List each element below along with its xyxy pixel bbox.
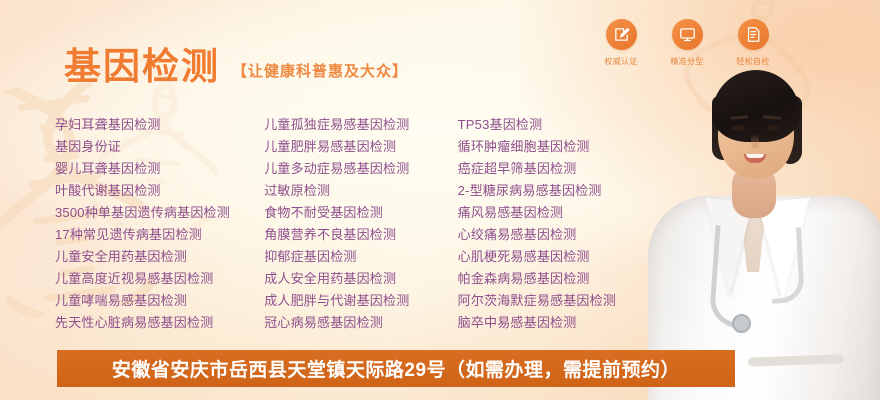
list-item[interactable]: 心绞痛易感基因检测 (458, 224, 655, 246)
list-item[interactable]: 儿童哮喘易感基因检测 (55, 290, 264, 312)
list-item[interactable]: 儿童孤独症易感基因检测 (264, 114, 457, 136)
list-item[interactable]: 先天性心脏病易感基因检测 (55, 312, 264, 334)
list-item[interactable]: 成人安全用药基因检测 (264, 268, 457, 290)
list-item[interactable]: 3500种单基因遗传病基因检测 (55, 202, 264, 224)
list-item[interactable]: TP53基因检测 (458, 114, 655, 136)
feature-badge-label: 精准分型 (670, 56, 703, 67)
feature-badges: 权威认证 精准分型 轻松自检 (597, 19, 777, 67)
stethoscope-chestpiece (732, 314, 751, 333)
stethoscope-tube-right (768, 227, 805, 304)
list-item[interactable]: 17种常见遗传病基因检测 (55, 224, 264, 246)
feature-badge-authority-certification[interactable]: 权威认证 (597, 19, 645, 67)
gene-test-column-1: 孕妇耳聋基因检测 基因身份证 婴儿耳聋基因检测 叶酸代谢基因检测 3500种单基… (55, 114, 264, 334)
list-item[interactable]: 基因身份证 (55, 136, 264, 158)
list-item[interactable]: 孕妇耳聋基因检测 (55, 114, 264, 136)
list-item[interactable]: 叶酸代谢基因检测 (55, 180, 264, 202)
list-item[interactable]: 脑卒中易感基因检测 (458, 312, 655, 334)
poster-header: 基因检测 【让健康科普惠及大众】 (64, 48, 408, 85)
doctor-eye-right (766, 125, 779, 131)
list-item[interactable]: 帕金森病易感基因检测 (458, 268, 655, 290)
list-item[interactable]: 冠心病易感基因检测 (264, 312, 457, 334)
list-item[interactable]: 角膜营养不良基因检测 (264, 224, 457, 246)
list-item[interactable]: 抑郁症基因检测 (264, 246, 457, 268)
doctor-eye-left (732, 125, 745, 131)
address-banner: 安徽省安庆市岳西县天堂镇天际路29号（如需办理，需提前预约） (57, 350, 735, 387)
doctor-nose (751, 134, 759, 148)
list-item[interactable]: 心肌梗死易感基因检测 (458, 246, 655, 268)
list-item[interactable]: 2-型糖尿病易感基因检测 (458, 180, 655, 202)
list-item[interactable]: 儿童安全用药基因检测 (55, 246, 264, 268)
gene-test-column-3: TP53基因检测 循环肿瘤细胞基因检测 癌症超早筛基因检测 2-型糖尿病易感基因… (458, 114, 655, 334)
list-item[interactable]: 癌症超早筛基因检测 (458, 158, 655, 180)
feature-badge-label: 权威认证 (604, 56, 637, 67)
list-item[interactable]: 循环肿瘤细胞基因检测 (458, 136, 655, 158)
list-item[interactable]: 儿童高度近视易感基因检测 (55, 268, 264, 290)
page-title: 基因检测 (64, 48, 220, 85)
list-item[interactable]: 过敏原检测 (264, 180, 457, 202)
monitor-screen-icon (672, 19, 703, 50)
page-subtitle: 【让健康科普惠及大众】 (232, 60, 408, 81)
list-item[interactable]: 婴儿耳聋基因检测 (55, 158, 264, 180)
list-item[interactable]: 痛风易感基因检测 (458, 202, 655, 224)
report-page-icon (738, 19, 769, 50)
stethoscope-tube-left (709, 225, 751, 328)
feature-badge-easy-self-check[interactable]: 轻松自检 (729, 19, 777, 67)
gene-test-list: 孕妇耳聋基因检测 基因身份证 婴儿耳聋基因检测 叶酸代谢基因检测 3500种单基… (55, 114, 655, 334)
feature-badge-precise-typing[interactable]: 精准分型 (663, 19, 711, 67)
list-item[interactable]: 阿尔茨海默症易感基因检测 (458, 290, 655, 312)
address-text: 安徽省安庆市岳西县天堂镇天际路29号（如需办理，需提前预约） (112, 355, 680, 382)
doctor-teeth (746, 154, 764, 158)
list-item[interactable]: 成人肥胖与代谢基因检测 (264, 290, 457, 312)
gene-testing-poster: 基因检测 【让健康科普惠及大众】 权威认证 精准分型 (0, 0, 880, 400)
gene-test-column-2: 儿童孤独症易感基因检测 儿童肥胖易感基因检测 儿童多动症易感基因检测 过敏原检测… (264, 114, 457, 334)
doctor-hair-top (712, 70, 800, 142)
edit-document-icon (606, 19, 637, 50)
feature-badge-label: 轻松自检 (736, 56, 769, 67)
list-item[interactable]: 儿童肥胖易感基因检测 (264, 136, 457, 158)
list-item[interactable]: 儿童多动症易感基因检测 (264, 158, 457, 180)
list-item[interactable]: 食物不耐受基因检测 (264, 202, 457, 224)
